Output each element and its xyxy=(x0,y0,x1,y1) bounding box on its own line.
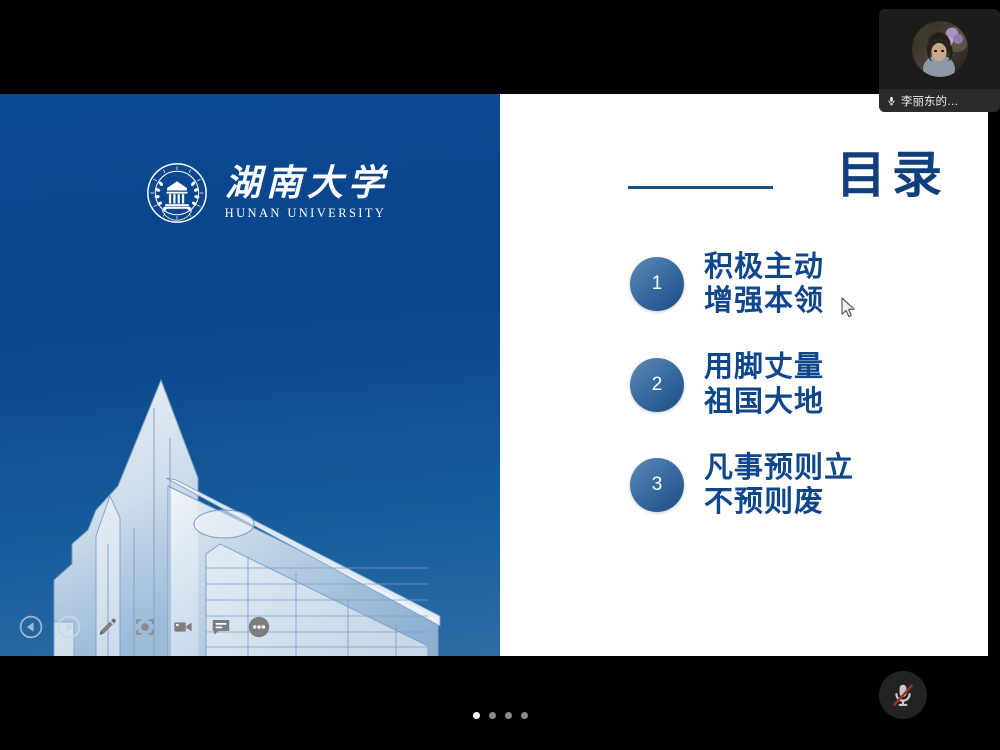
chat-button[interactable] xyxy=(202,608,240,646)
video-camera-icon xyxy=(172,616,194,638)
toc-item-label: 积极主动 增强本领 xyxy=(704,250,824,318)
title-row: 目录 xyxy=(628,150,948,214)
page-dot[interactable] xyxy=(521,712,528,719)
university-logo-text: 湖南大学 HUNAN UNIVERSITY xyxy=(220,165,389,222)
university-name-cn: 湖南大学 xyxy=(220,165,389,203)
slide-right-panel: 目录 1 积极主动 增强本领 2 用脚丈量 祖国大地 3 凡事预则立 不预则废 xyxy=(500,94,988,656)
prev-slide-button[interactable] xyxy=(12,608,50,646)
list-item: 1 积极主动 增强本领 xyxy=(630,250,970,318)
presenter-toolbar xyxy=(0,606,280,648)
spotlight-button[interactable] xyxy=(126,608,164,646)
toc-number-badge: 3 xyxy=(630,458,684,512)
page-dot[interactable] xyxy=(489,712,496,719)
hunan-university-seal-icon xyxy=(146,162,208,224)
webcam-label-bar: 李丽东的… xyxy=(879,89,1000,112)
annotate-button[interactable] xyxy=(88,608,126,646)
next-slide-button[interactable] xyxy=(50,608,88,646)
webcam-video xyxy=(879,9,1000,89)
chat-bubble-icon xyxy=(210,616,232,638)
triangle-right-circle-icon xyxy=(57,615,81,639)
toc-item-label: 凡事预则立 不预则废 xyxy=(704,451,854,519)
page-dot[interactable] xyxy=(505,712,512,719)
webcam-participant-name: 李丽东的… xyxy=(901,93,959,109)
slide-stage: 湖南大学 HUNAN UNIVERSITY xyxy=(0,94,988,656)
page-title: 目录 xyxy=(836,150,948,200)
participant-avatar xyxy=(912,21,968,77)
spotlight-focus-icon xyxy=(134,616,156,638)
microphone-icon xyxy=(886,94,897,108)
more-options-button[interactable] xyxy=(240,608,278,646)
pencil-icon xyxy=(96,616,118,638)
mic-toggle-button[interactable] xyxy=(879,671,927,719)
microphone-muted-icon xyxy=(889,681,917,709)
toc-list: 1 积极主动 增强本领 2 用脚丈量 祖国大地 3 凡事预则立 不预则废 xyxy=(630,250,970,519)
page-dot[interactable] xyxy=(473,712,480,719)
toc-item-label: 用脚丈量 祖国大地 xyxy=(704,350,824,418)
toc-number-badge: 2 xyxy=(630,358,684,412)
university-logo: 湖南大学 HUNAN UNIVERSITY xyxy=(146,152,376,234)
arrow-cursor xyxy=(841,297,857,319)
triangle-left-circle-icon xyxy=(19,615,43,639)
more-dots-circle-icon xyxy=(247,615,271,639)
slide-left-panel: 湖南大学 HUNAN UNIVERSITY xyxy=(0,94,500,656)
university-name-en: HUNAN UNIVERSITY xyxy=(223,206,387,221)
avatar xyxy=(912,21,968,77)
list-item: 3 凡事预则立 不预则废 xyxy=(630,451,970,519)
webcam-tile[interactable]: 李丽东的… xyxy=(879,9,1000,112)
video-button[interactable] xyxy=(164,608,202,646)
page-dots xyxy=(0,712,1000,719)
list-item: 2 用脚丈量 祖国大地 xyxy=(630,350,970,418)
title-divider xyxy=(628,186,773,189)
toc-number-badge: 1 xyxy=(630,257,684,311)
screen-root: 湖南大学 HUNAN UNIVERSITY xyxy=(0,0,1000,750)
